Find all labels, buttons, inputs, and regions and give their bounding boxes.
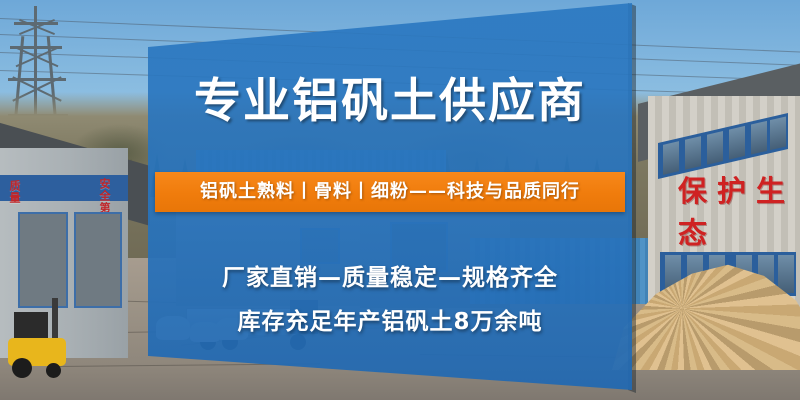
forklift (6, 298, 72, 378)
warehouse-door (74, 212, 122, 308)
left-building-sign-1: 质量 (6, 180, 22, 204)
blue-overlay-panel (140, 0, 640, 400)
right-building-sign: 保护生态 (678, 168, 800, 252)
warehouse-door (18, 212, 68, 308)
promo-banner: 质量 安全第一 保护生态 (0, 0, 800, 400)
